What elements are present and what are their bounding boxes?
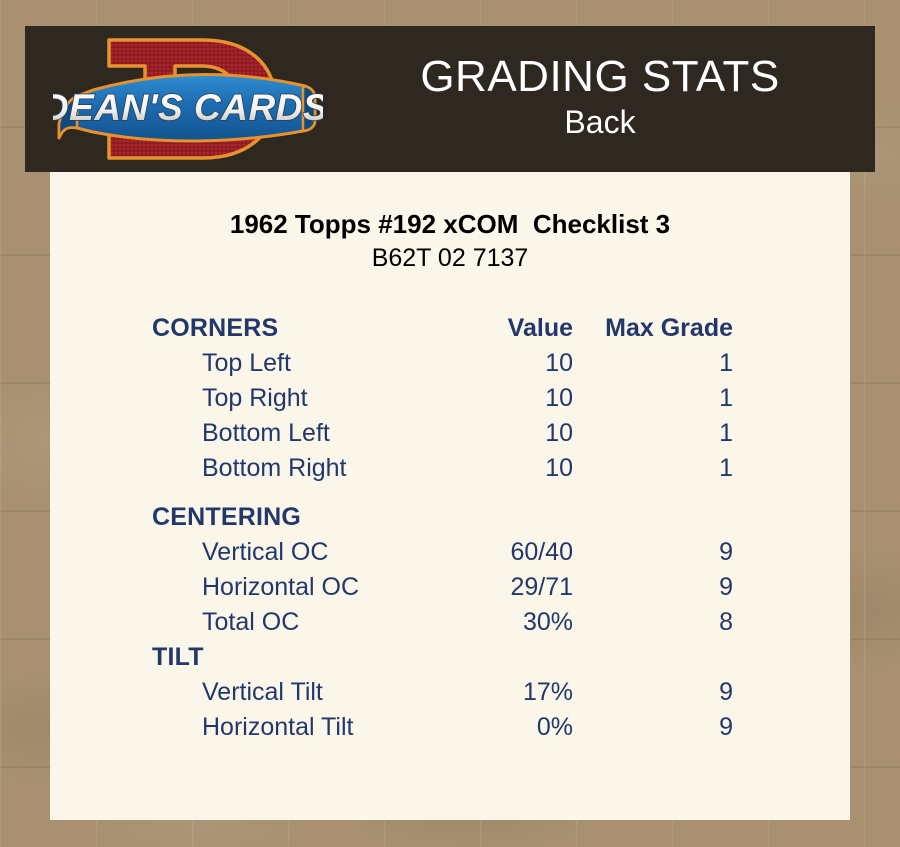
grading-stats-table: CORNERS Value Max Grade Top Left 10 1 To…	[50, 311, 850, 745]
row-max-grade-top-right: 1	[603, 381, 733, 416]
table-row: Bottom Left 10 1	[50, 416, 850, 451]
row-max-grade-total-oc: 8	[603, 605, 733, 640]
section-header-tilt: TILT	[152, 640, 204, 675]
section-row-centering: CENTERING	[50, 500, 850, 535]
row-label-vertical-oc: Vertical OC	[202, 535, 328, 570]
row-value-top-right: 10	[433, 381, 573, 416]
card-title: 1962 Topps #192 xCOM Checklist 3	[50, 209, 850, 240]
page-subtitle: Back	[564, 102, 635, 144]
table-header-row: CORNERS Value Max Grade	[50, 311, 850, 346]
column-header-max-grade: Max Grade	[603, 311, 733, 346]
table-row: Top Right 10 1	[50, 381, 850, 416]
row-value-total-oc: 30%	[433, 605, 573, 640]
grading-stats-page: DEAN'S CARDS GRADING STATS Back 1962 Top…	[0, 0, 900, 847]
row-max-grade-vertical-oc: 9	[603, 535, 733, 570]
table-row: Total OC 30% 8	[50, 605, 850, 640]
table-row: Bottom Right 10 1	[50, 451, 850, 486]
row-label-bottom-right: Bottom Right	[202, 451, 347, 486]
row-value-horizontal-oc: 29/71	[433, 570, 573, 605]
row-label-horizontal-oc: Horizontal OC	[202, 570, 359, 605]
table-row: Vertical OC 60/40 9	[50, 535, 850, 570]
row-max-grade-horizontal-tilt: 9	[603, 710, 733, 745]
row-value-vertical-oc: 60/40	[433, 535, 573, 570]
row-label-top-left: Top Left	[202, 346, 291, 381]
header-bar: DEAN'S CARDS GRADING STATS Back	[25, 26, 875, 172]
row-label-horizontal-tilt: Horizontal Tilt	[202, 710, 353, 745]
section-header-centering: CENTERING	[152, 500, 301, 535]
row-value-top-left: 10	[433, 346, 573, 381]
page-title: GRADING STATS	[420, 55, 779, 100]
row-value-horizontal-tilt: 0%	[433, 710, 573, 745]
row-label-bottom-left: Bottom Left	[202, 416, 330, 451]
row-value-bottom-right: 10	[433, 451, 573, 486]
row-max-grade-bottom-right: 1	[603, 451, 733, 486]
table-row: Horizontal OC 29/71 9	[50, 570, 850, 605]
content-panel: 1962 Topps #192 xCOM Checklist 3 B62T 02…	[50, 172, 850, 820]
table-row: Horizontal Tilt 0% 9	[50, 710, 850, 745]
deans-cards-logo[interactable]: DEAN'S CARDS	[53, 28, 323, 170]
header-title-group: GRADING STATS Back	[325, 26, 875, 172]
logo-wordmark: DEAN'S CARDS	[53, 87, 323, 128]
row-max-grade-top-left: 1	[603, 346, 733, 381]
row-label-vertical-tilt: Vertical Tilt	[202, 675, 323, 710]
section-header-corners: CORNERS	[152, 311, 278, 346]
row-max-grade-bottom-left: 1	[603, 416, 733, 451]
row-max-grade-vertical-tilt: 9	[603, 675, 733, 710]
row-value-bottom-left: 10	[433, 416, 573, 451]
row-label-top-right: Top Right	[202, 381, 308, 416]
table-row: Top Left 10 1	[50, 346, 850, 381]
card-code: B62T 02 7137	[50, 244, 850, 273]
row-max-grade-horizontal-oc: 9	[603, 570, 733, 605]
column-header-value: Value	[433, 311, 573, 346]
row-label-total-oc: Total OC	[202, 605, 299, 640]
table-row: Vertical Tilt 17% 9	[50, 675, 850, 710]
row-value-vertical-tilt: 17%	[433, 675, 573, 710]
section-row-tilt: TILT	[50, 640, 850, 675]
